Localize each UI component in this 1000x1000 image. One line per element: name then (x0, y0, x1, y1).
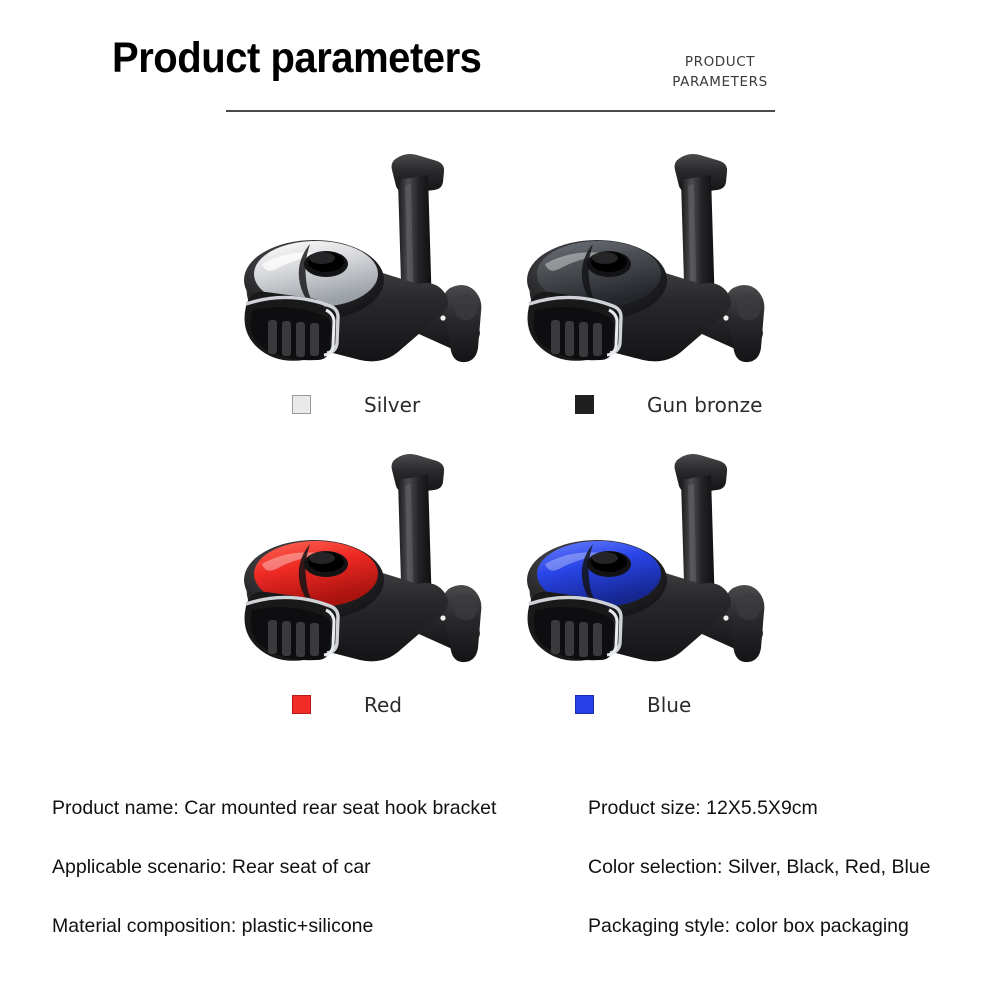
product-image-blue (505, 440, 805, 685)
header-subtitle: PRODUCT PARAMETERS (660, 52, 780, 92)
header-subtitle-line-2: PARAMETERS (660, 72, 780, 92)
product-image-silver (222, 140, 522, 385)
color-swatch-blue[interactable] (575, 695, 594, 714)
product-variant-blue[interactable]: Blue (505, 440, 805, 740)
product-color-grid: Silver (0, 140, 1000, 750)
color-swatch-red[interactable] (292, 695, 311, 714)
product-variant-silver[interactable]: Silver (222, 140, 522, 440)
color-swatch-gun-bronze[interactable] (575, 395, 594, 414)
spec-packaging-style: Packaging style: color box packaging (588, 913, 1000, 939)
product-variant-gun-bronze[interactable]: Gun bronze (505, 140, 805, 440)
page-header: Product parameters PRODUCT PARAMETERS (0, 0, 1000, 120)
color-label-red: Red (364, 692, 402, 718)
swatch-row-silver: Silver (222, 392, 522, 422)
spec-color-selection: Color selection: Silver, Black, Red, Blu… (588, 854, 1000, 880)
spec-product-size: Product size: 12X5.5X9cm (588, 795, 1000, 821)
swatch-row-gun-bronze: Gun bronze (505, 392, 805, 422)
specification-block: Product name: Car mounted rear seat hook… (0, 795, 1000, 975)
product-variant-red[interactable]: Red (222, 440, 522, 740)
swatch-row-red: Red (222, 692, 522, 722)
header-divider (226, 110, 775, 112)
swatch-row-blue: Blue (505, 692, 805, 722)
spec-applicable-scenario: Applicable scenario: Rear seat of car (52, 854, 472, 880)
product-image-red (222, 440, 522, 685)
color-label-blue: Blue (647, 692, 691, 718)
page-title: Product parameters (112, 34, 481, 83)
color-label-silver: Silver (364, 392, 420, 418)
color-swatch-silver[interactable] (292, 395, 311, 414)
spec-column-left: Product name: Car mounted rear seat hook… (52, 795, 472, 972)
spec-column-right: Product size: 12X5.5X9cm Color selection… (588, 795, 1000, 972)
spec-material-composition: Material composition: plastic+silicone (52, 913, 472, 939)
color-label-gun-bronze: Gun bronze (647, 392, 762, 418)
header-subtitle-line-1: PRODUCT (660, 52, 780, 72)
product-image-gun-bronze (505, 140, 805, 385)
spec-product-name: Product name: Car mounted rear seat hook… (52, 795, 472, 821)
